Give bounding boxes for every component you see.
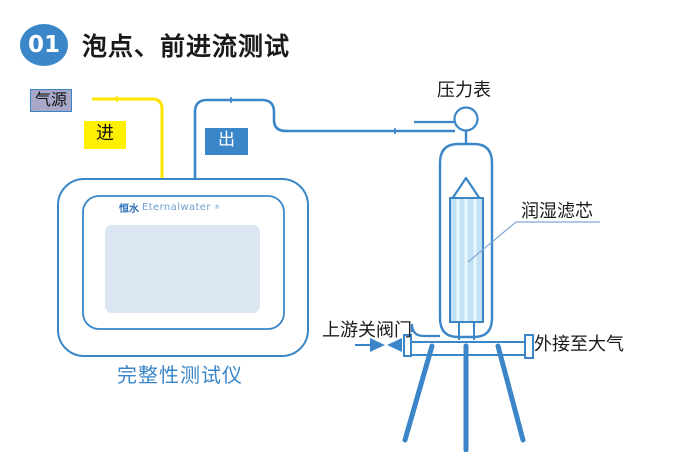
wetted-filter-label: 润湿滤芯 [521, 197, 593, 223]
step-number-badge: 01 [20, 24, 68, 66]
tripod-leg-left [405, 346, 432, 440]
upstream-pipe-elbow [412, 324, 440, 336]
process-flow-diagram [0, 0, 678, 452]
outlet-label: 出 [205, 128, 248, 155]
atmosphere-flange [525, 335, 533, 358]
trademark-icon: ® [214, 204, 220, 211]
instrument-screen[interactable] [105, 225, 260, 313]
instrument-brand: 恒水 Eternalwater ® [119, 200, 220, 215]
page-header: 01 泡点、前进流测试 [20, 24, 290, 66]
pressure-gauge-label: 压力表 [437, 76, 491, 102]
upstream-valve-label: 上游关阀门 [322, 316, 412, 342]
inlet-label: 进 [84, 121, 126, 149]
gas-source-label: 气源 [30, 89, 72, 112]
tripod-leg-right [498, 346, 523, 440]
brand-logo-cn: 恒水 [119, 200, 139, 215]
device-name-label: 完整性测试仪 [117, 359, 243, 388]
to-atmosphere-label: 外接至大气 [534, 330, 624, 356]
page-title: 泡点、前进流测试 [82, 27, 290, 63]
brand-logo-en: Eternalwater [142, 202, 211, 213]
pressure-gauge-dial[interactable] [455, 108, 478, 131]
diagram-canvas: 01 泡点、前进流测试 气源 进 出 压力表 润湿滤芯 上游关阀门 外接至大气 … [0, 0, 678, 452]
